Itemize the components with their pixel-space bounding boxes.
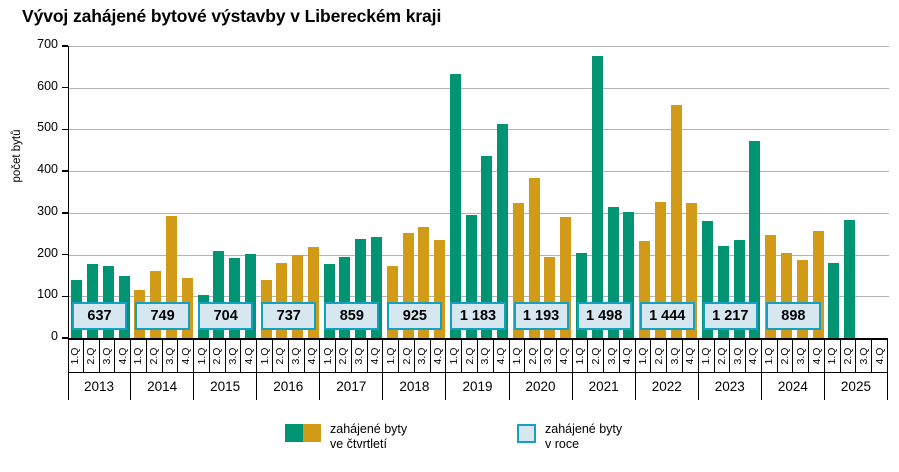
legend-swatch-gold bbox=[303, 424, 321, 442]
x-axis-quarter-label: 3.Q bbox=[542, 348, 554, 365]
year-total-box: 704 bbox=[198, 302, 253, 330]
year-total-box: 637 bbox=[72, 302, 127, 330]
x-axis-quarter-labels: 1.Q2.Q3.Q4.Q1.Q2.Q3.Q4.Q1.Q2.Q3.Q4.Q1.Q2… bbox=[68, 340, 888, 372]
x-axis-quarter-cell: 4.Q bbox=[368, 340, 384, 372]
x-axis-quarter-cell: 4.Q bbox=[241, 340, 257, 372]
x-axis-quarter-label: 1.Q bbox=[259, 348, 271, 365]
x-axis-quarter-label: 1.Q bbox=[196, 348, 208, 365]
x-axis-year-cell: 2019 bbox=[446, 372, 509, 400]
x-axis-quarter-cell: 2.Q bbox=[841, 340, 857, 372]
x-axis-quarter-cell: 4.Q bbox=[494, 340, 510, 372]
x-axis-quarter-cell: 3.Q bbox=[163, 340, 179, 372]
x-axis-year-cell: 2017 bbox=[320, 372, 383, 400]
y-axis-tick-label: 300 bbox=[12, 204, 58, 218]
x-axis-year-cell: 2024 bbox=[762, 372, 825, 400]
x-axis-quarter-cell: 2.Q bbox=[651, 340, 667, 372]
x-axis-quarter-cell: 1.Q bbox=[383, 340, 399, 372]
gridline bbox=[69, 88, 889, 89]
x-axis-quarter-cell: 3.Q bbox=[352, 340, 368, 372]
y-axis-tick-label: 600 bbox=[12, 79, 58, 93]
x-axis-year-cell: 2021 bbox=[573, 372, 636, 400]
x-axis-quarter-cell: 1.Q bbox=[573, 340, 589, 372]
x-axis-quarter-cell: 2.Q bbox=[715, 340, 731, 372]
chart-title: Vývoj zahájené bytové výstavby v Liberec… bbox=[22, 6, 441, 27]
bar bbox=[592, 56, 603, 338]
legend-swatch-yearly bbox=[517, 424, 536, 443]
x-axis-quarter-label: 4.Q bbox=[747, 348, 759, 365]
x-axis-quarter-cell: 1.Q bbox=[257, 340, 273, 372]
year-total-box: 1 498 bbox=[577, 302, 632, 330]
x-axis-quarter-label: 3.Q bbox=[858, 348, 870, 365]
year-total-box: 749 bbox=[135, 302, 190, 330]
x-axis-quarter-cell: 2.Q bbox=[210, 340, 226, 372]
x-axis-quarter-label: 3.Q bbox=[732, 348, 744, 365]
x-axis-quarter-label: 2.Q bbox=[337, 348, 349, 365]
legend-label-quarterly-line1: zahájené byty bbox=[330, 422, 407, 437]
y-axis-tick-label: 400 bbox=[12, 162, 58, 176]
x-axis-quarter-cell: 1.Q bbox=[194, 340, 210, 372]
gridline bbox=[69, 171, 889, 172]
x-axis-year-cell: 2015 bbox=[194, 372, 257, 400]
x-axis-quarter-label: 4.Q bbox=[369, 348, 381, 365]
x-axis-quarter-cell: 3.Q bbox=[289, 340, 305, 372]
x-axis-quarter-cell: 1.Q bbox=[699, 340, 715, 372]
x-axis-quarter-label: 4.Q bbox=[117, 348, 129, 365]
x-axis-quarter-cell: 4.Q bbox=[305, 340, 321, 372]
x-axis-quarter-cell: 3.Q bbox=[100, 340, 116, 372]
x-axis-quarter-cell: 1.Q bbox=[131, 340, 147, 372]
x-axis-quarter-cell: 3.Q bbox=[604, 340, 620, 372]
x-axis-quarter-label: 2.Q bbox=[779, 348, 791, 365]
x-axis-quarter-label: 1.Q bbox=[511, 348, 523, 365]
year-total-box: 925 bbox=[387, 302, 442, 330]
y-axis-tick-label: 200 bbox=[12, 246, 58, 260]
x-axis-quarter-cell: 3.Q bbox=[478, 340, 494, 372]
year-total-box: 1 217 bbox=[703, 302, 758, 330]
legend-label-yearly-line2: v roce bbox=[545, 437, 622, 452]
x-axis-quarter-label: 2.Q bbox=[211, 348, 223, 365]
x-axis-quarter-cell: 4.Q bbox=[115, 340, 131, 372]
x-axis-quarter-label: 4.Q bbox=[621, 348, 633, 365]
legend-swatch-quarterly bbox=[285, 424, 321, 442]
x-axis-quarter-cell: 4.Q bbox=[620, 340, 636, 372]
y-axis-tick-label: 700 bbox=[12, 37, 58, 51]
x-axis-quarter-label: 2.Q bbox=[274, 348, 286, 365]
year-total-box: 1 183 bbox=[450, 302, 505, 330]
x-axis-quarter-cell: 1.Q bbox=[762, 340, 778, 372]
x-axis-quarter-label: 1.Q bbox=[322, 348, 334, 365]
x-axis-quarter-label: 1.Q bbox=[132, 348, 144, 365]
x-axis-quarter-cell: 2.Q bbox=[147, 340, 163, 372]
x-axis-quarter-cell: 2.Q bbox=[462, 340, 478, 372]
x-axis-quarter-label: 3.Q bbox=[227, 348, 239, 365]
chart-container: Vývoj zahájené bytové výstavby v Liberec… bbox=[0, 0, 899, 472]
x-axis-quarter-label: 1.Q bbox=[637, 348, 649, 365]
x-axis-quarter-cell: 3.Q bbox=[856, 340, 872, 372]
x-axis-quarter-label: 2.Q bbox=[85, 348, 97, 365]
x-axis-quarter-cell: 4.Q bbox=[557, 340, 573, 372]
x-axis-quarter-label: 3.Q bbox=[795, 348, 807, 365]
x-axis-quarter-label: 1.Q bbox=[700, 348, 712, 365]
x-axis-quarter-cell: 4.Q bbox=[872, 340, 888, 372]
x-axis-quarter-cell: 1.Q bbox=[636, 340, 652, 372]
x-axis-quarter-cell: 2.Q bbox=[525, 340, 541, 372]
x-axis-quarter-label: 1.Q bbox=[69, 348, 81, 365]
x-axis-quarter-label: 3.Q bbox=[669, 348, 681, 365]
x-axis-quarter-cell: 2.Q bbox=[336, 340, 352, 372]
x-axis-quarter-cell: 1.Q bbox=[68, 340, 84, 372]
x-axis-quarter-cell: 1.Q bbox=[825, 340, 841, 372]
x-axis-quarter-cell: 2.Q bbox=[273, 340, 289, 372]
legend-label-quarterly-line2: ve čtvrtletí bbox=[330, 437, 407, 452]
x-axis-quarter-label: 1.Q bbox=[826, 348, 838, 365]
x-axis-quarter-cell: 2.Q bbox=[84, 340, 100, 372]
x-axis-quarter-cell: 2.Q bbox=[399, 340, 415, 372]
x-axis-year-labels: 2013201420152016201720182019202020212022… bbox=[68, 372, 888, 400]
x-axis-quarter-cell: 4.Q bbox=[683, 340, 699, 372]
x-axis-quarter-label: 2.Q bbox=[653, 348, 665, 365]
year-total-box: 898 bbox=[766, 302, 821, 330]
y-axis-tick-label: 500 bbox=[12, 120, 58, 134]
x-axis-quarter-label: 1.Q bbox=[448, 348, 460, 365]
x-axis-quarter-label: 4.Q bbox=[874, 348, 886, 365]
x-axis-quarter-label: 1.Q bbox=[385, 348, 397, 365]
legend-swatch-green bbox=[285, 424, 303, 442]
x-axis-quarter-label: 3.Q bbox=[606, 348, 618, 365]
x-axis-quarter-label: 2.Q bbox=[464, 348, 476, 365]
x-axis-year-cell: 2022 bbox=[636, 372, 699, 400]
plot-area: 6377497047378599251 1831 1931 4981 4441 … bbox=[68, 46, 889, 338]
x-axis-quarter-label: 4.Q bbox=[432, 348, 444, 365]
x-axis-quarter-cell: 1.Q bbox=[446, 340, 462, 372]
x-axis-quarter-label: 2.Q bbox=[148, 348, 160, 365]
x-axis-quarter-label: 2.Q bbox=[716, 348, 728, 365]
x-axis-quarter-cell: 1.Q bbox=[320, 340, 336, 372]
x-axis-quarter-cell: 4.Q bbox=[431, 340, 447, 372]
x-axis-quarter-label: 4.Q bbox=[684, 348, 696, 365]
x-axis-year-cell: 2018 bbox=[383, 372, 446, 400]
x-axis-quarter-cell: 3.Q bbox=[415, 340, 431, 372]
x-axis-quarter-label: 4.Q bbox=[495, 348, 507, 365]
x-axis-quarter-label: 3.Q bbox=[479, 348, 491, 365]
x-axis-quarter-cell: 4.Q bbox=[178, 340, 194, 372]
x-axis-quarter-label: 4.Q bbox=[811, 348, 823, 365]
x-axis-quarter-label: 4.Q bbox=[180, 348, 192, 365]
x-axis-year-cell: 2013 bbox=[68, 372, 131, 400]
x-axis-quarter-label: 2.Q bbox=[527, 348, 539, 365]
year-total-box: 737 bbox=[261, 302, 316, 330]
chart-legend: zahájené byty ve čtvrtletí zahájené byty… bbox=[0, 414, 899, 464]
x-axis-quarter-cell: 3.Q bbox=[793, 340, 809, 372]
x-axis-year-cell: 2023 bbox=[699, 372, 762, 400]
x-axis-year-cell: 2014 bbox=[131, 372, 194, 400]
x-axis-quarter-cell: 3.Q bbox=[730, 340, 746, 372]
legend-item-quarterly: zahájené byty ve čtvrtletí bbox=[285, 422, 407, 451]
x-axis-quarter-label: 4.Q bbox=[558, 348, 570, 365]
x-axis-quarter-label: 3.Q bbox=[164, 348, 176, 365]
x-axis-quarter-label: 3.Q bbox=[290, 348, 302, 365]
x-axis-year-cell: 2020 bbox=[510, 372, 573, 400]
x-axis-quarter-cell: 1.Q bbox=[510, 340, 526, 372]
x-axis-year-cell: 2025 bbox=[825, 372, 888, 400]
gridline bbox=[69, 213, 889, 214]
bar bbox=[844, 220, 855, 338]
x-axis-quarter-label: 4.Q bbox=[306, 348, 318, 365]
x-axis-quarter-label: 4.Q bbox=[243, 348, 255, 365]
y-axis-tick-label: 0 bbox=[12, 329, 58, 343]
x-axis-year-cell: 2016 bbox=[257, 372, 320, 400]
x-axis-quarter-label: 3.Q bbox=[101, 348, 113, 365]
x-axis-quarter-cell: 3.Q bbox=[226, 340, 242, 372]
legend-label-yearly-line1: zahájené byty bbox=[545, 422, 622, 437]
x-axis-quarter-label: 1.Q bbox=[763, 348, 775, 365]
x-axis-quarter-label: 3.Q bbox=[353, 348, 365, 365]
x-axis-quarter-label: 3.Q bbox=[416, 348, 428, 365]
year-total-box: 1 444 bbox=[640, 302, 695, 330]
x-axis-quarter-cell: 4.Q bbox=[746, 340, 762, 372]
gridline bbox=[69, 46, 889, 47]
bar bbox=[450, 74, 461, 338]
gridline bbox=[69, 129, 889, 130]
x-axis-quarter-cell: 4.Q bbox=[809, 340, 825, 372]
legend-item-yearly: zahájené byty v roce bbox=[517, 422, 622, 451]
year-total-box: 859 bbox=[324, 302, 379, 330]
x-axis-quarter-cell: 2.Q bbox=[588, 340, 604, 372]
legend-label-quarterly: zahájené byty ve čtvrtletí bbox=[330, 422, 407, 451]
legend-label-yearly: zahájené byty v roce bbox=[545, 422, 622, 451]
x-axis-quarter-label: 2.Q bbox=[590, 348, 602, 365]
x-axis-quarter-label: 1.Q bbox=[574, 348, 586, 365]
bar bbox=[828, 263, 839, 338]
x-axis-quarter-cell: 2.Q bbox=[778, 340, 794, 372]
x-axis-quarter-label: 2.Q bbox=[842, 348, 854, 365]
year-total-box: 1 193 bbox=[514, 302, 569, 330]
x-axis-quarter-cell: 3.Q bbox=[541, 340, 557, 372]
x-axis-quarter-cell: 3.Q bbox=[667, 340, 683, 372]
y-axis-tick-label: 100 bbox=[12, 287, 58, 301]
x-axis-quarter-label: 2.Q bbox=[401, 348, 413, 365]
